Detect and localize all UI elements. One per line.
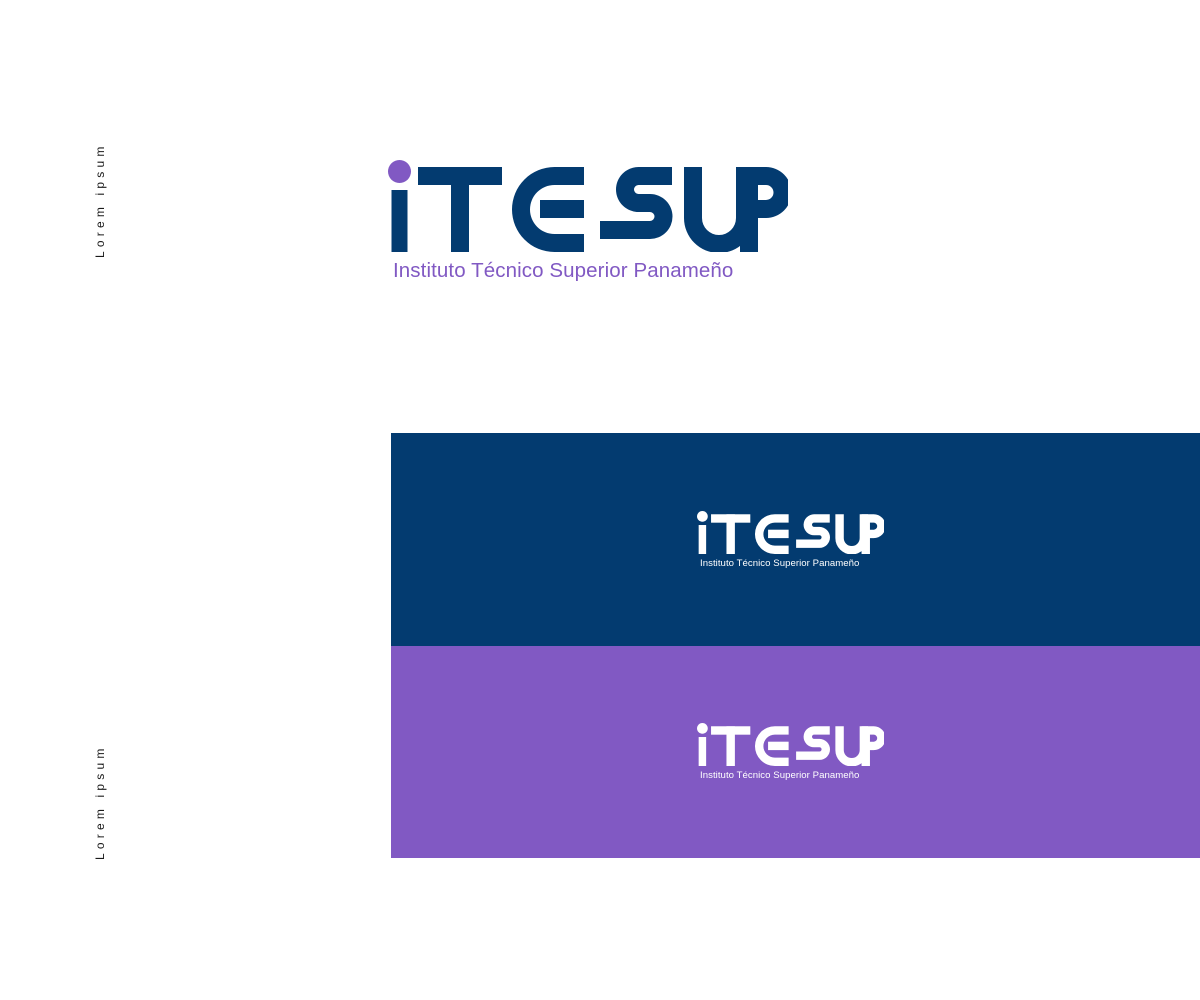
letter-e [755, 514, 789, 554]
letter-t [711, 726, 750, 766]
letter-e [512, 167, 584, 252]
wordmark-itesup-purple-panel [697, 723, 884, 766]
purple-panel-logo-lockup: Instituto Técnico Superior Panameño [697, 723, 884, 781]
letter-p [740, 167, 788, 252]
side-label-bottom: Lorem ipsum [93, 744, 107, 860]
letter-e [755, 726, 789, 766]
letter-t [711, 514, 750, 554]
letter-p [862, 726, 884, 766]
navy-panel-logo-lockup: Instituto Técnico Superior Panameño [697, 511, 884, 569]
letter-i-stem [392, 190, 408, 252]
letter-p [862, 514, 884, 554]
navy-panel-tagline: Instituto Técnico Superior Panameño [700, 558, 859, 569]
letter-s [796, 514, 830, 548]
letter-t [418, 167, 502, 252]
letter-s [600, 167, 673, 239]
navy-swatch-panel: Instituto Técnico Superior Panameño [391, 433, 1200, 646]
side-label-top: Lorem ipsum [93, 142, 107, 258]
letter-i-dot-icon [697, 723, 708, 734]
letter-i-stem [699, 525, 706, 554]
purple-panel-tagline: Instituto Técnico Superior Panameño [700, 770, 859, 781]
letter-s [796, 726, 830, 760]
wordmark-itesup-navy-panel [697, 511, 884, 554]
color-swatch-panels: Instituto Técnico Superior Panameño [391, 433, 1200, 858]
purple-swatch-panel: Instituto Técnico Superior Panameño [391, 646, 1200, 858]
letter-i-dot-icon [697, 511, 708, 522]
brand-presentation-page: Lorem ipsum Lorem ipsum [0, 0, 1200, 1000]
primary-logo-lockup: Instituto Técnico Superior Panameño [388, 160, 788, 283]
wordmark-itesup-primary [388, 160, 788, 252]
primary-logo-tagline: Instituto Técnico Superior Panameño [393, 259, 788, 283]
letter-i-dot-icon [388, 160, 411, 183]
letter-i-stem [699, 737, 706, 766]
